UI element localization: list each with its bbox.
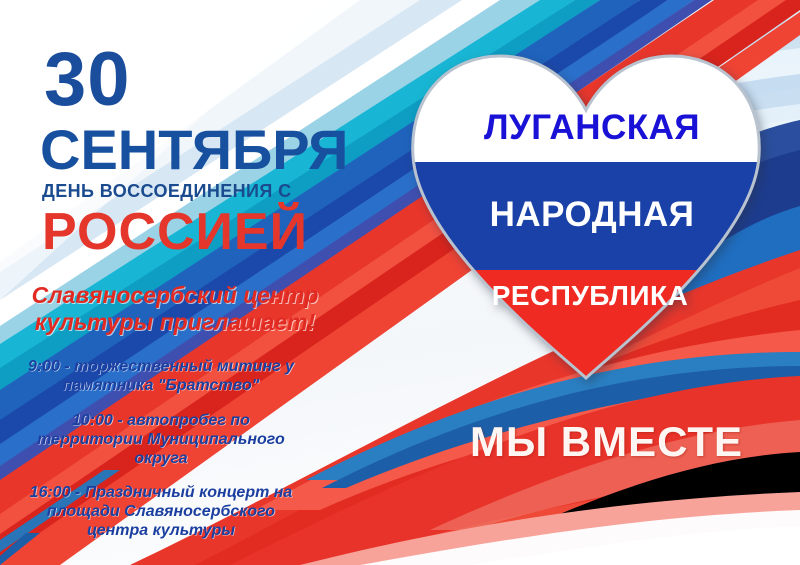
heart-text-luganskaya: ЛУГАНСКАЯ (414, 108, 770, 148)
schedule-item: 9:00 - торжественный митинг у памятника … (2, 358, 320, 396)
date-day-number: 30 (44, 44, 131, 115)
slogan-we-are-together: МЫ ВМЕСТЕ (470, 418, 743, 466)
invitation-line: культуры приглашает! (10, 309, 340, 336)
schedule-line: округа (2, 450, 320, 469)
schedule-line: 10:00 - автопробег по (2, 412, 320, 431)
invitation-line: Славяносербский центр (10, 282, 340, 309)
country-name-russia: РОССИЕЙ (42, 206, 308, 258)
schedule-line: площади Славяносербского (2, 503, 320, 522)
heart-text-respublika: РЕСПУБЛИКА (412, 280, 768, 312)
lpr-heart-emblem: ЛУГАНСКАЯ НАРОДНАЯ РЕСПУБЛИКА (408, 52, 764, 380)
schedule-item: 16:00 - Праздничный концерт на площади С… (2, 484, 320, 541)
schedule-line: памятника "Братство" (2, 377, 320, 396)
schedule-line: центра культуры (2, 522, 320, 541)
invitation-text: Славяносербский центр культуры приглашае… (10, 282, 340, 336)
date-month-name: СЕНТЯБРЯ (40, 122, 348, 178)
reunion-day-label: ДЕНЬ ВОССОЕДИНЕНИЯ С (42, 181, 292, 202)
poster-canvas: ЛУГАНСКАЯ НАРОДНАЯ РЕСПУБЛИКА 30 СЕНТЯБР… (0, 0, 800, 565)
heart-text-narodnaya: НАРОДНАЯ (414, 195, 770, 235)
schedule-line: территории Муниципального (2, 431, 320, 450)
schedule-line: 16:00 - Праздничный концерт на (2, 484, 320, 503)
schedule-line: 9:00 - торжественный митинг у (2, 358, 320, 377)
schedule-item: 10:00 - автопробег по территории Муницип… (2, 412, 320, 469)
event-schedule-list: 9:00 - торжественный митинг у памятника … (2, 358, 320, 557)
